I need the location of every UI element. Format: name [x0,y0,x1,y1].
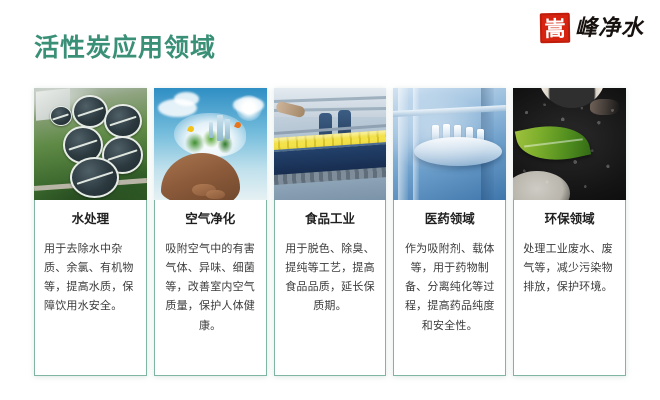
hand-holding-eco-city-photo [154,88,267,200]
card-title: 食品工业 [305,213,355,226]
photo-bowl-rim [590,99,619,115]
card-water-treatment[interactable]: 水处理 用于去除水中杂质、余氯、有机物等，提高水质，保障饮用水安全。 [34,88,147,376]
company-wordmark: 峰净水 [575,17,644,39]
photo-cloud [174,92,199,105]
card-body: 空气净化 吸附空气中的有害气体、异味、细菌等，改善室内空气质量，保护人体健康。 [154,200,267,376]
card-description: 作为吸附剂、载体等，用于药物制备、分离纯化等过程，提高药品纯度和安全性。 [403,240,496,336]
photo-building-tower [209,122,213,138]
photo-building-tower [217,115,223,141]
photo-sun-glow [236,95,262,121]
card-pharmaceutical[interactable]: 医药领域 作为吸附剂、载体等，用于药物制备、分离纯化等过程，提高药品纯度和安全性… [393,88,506,376]
photo-building-tower [225,119,230,139]
application-cards-row: 水处理 用于去除水中杂质、余氯、有机物等，提高水质，保障饮用水安全。 空气净化 … [34,88,626,376]
card-description: 用于脱色、除臭、提纯等工艺，提高食品品质，延长保质期。 [284,240,377,317]
card-title: 水处理 [72,213,110,226]
card-environmental-protection[interactable]: 环保领域 处理工业废水、废气等，减少污染物排放，保护环境。 [513,88,626,376]
beverage-bottling-line-photo [274,88,387,200]
photo-clarifier-tank [72,95,108,128]
photo-clarifier-tank [50,106,72,126]
photo-finger [206,190,225,200]
card-description: 吸附空气中的有害气体、异味、细菌等，改善室内空气质量，保护人体健康。 [164,240,257,336]
card-body: 食品工业 用于脱色、除臭、提纯等工艺，提高食品品质，延长保质期。 [274,200,387,376]
brand-logo: 嵩 峰净水 [540,8,644,48]
photo-hand [161,153,240,200]
pharmaceutical-production-line-photo [393,88,506,200]
card-description: 用于去除水中杂质、余氯、有机物等，提高水质，保障饮用水安全。 [44,240,137,317]
card-title: 环保领域 [545,213,595,226]
card-title: 空气净化 [185,213,235,226]
card-food-industry[interactable]: 食品工业 用于脱色、除臭、提纯等工艺，提高食品品质，延长保质期。 [274,88,387,376]
card-air-purification[interactable]: 空气净化 吸附空气中的有害气体、异味、细菌等，改善室内空气质量，保护人体健康。 [154,88,267,376]
card-title: 医药领域 [425,213,475,226]
card-description: 处理工业废水、废气等，减少污染物排放，保护环境。 [523,240,616,298]
water-treatment-plant-photo [34,88,147,200]
page-title: 活性炭应用领域 [34,36,216,61]
card-body: 水处理 用于去除水中杂质、余氯、有机物等，提高水质，保障饮用水安全。 [34,200,147,376]
card-body: 医药领域 作为吸附剂、载体等，用于药物制备、分离纯化等过程，提高药品纯度和安全性… [393,200,506,376]
photo-light-haze [393,88,506,200]
photo-clarifier-tank [104,104,142,138]
card-body: 环保领域 处理工业废水、废气等，减少污染物排放，保护环境。 [513,200,626,376]
company-seal-icon: 嵩 [540,13,571,44]
activated-carbon-granules-leaf-photo [513,88,626,200]
